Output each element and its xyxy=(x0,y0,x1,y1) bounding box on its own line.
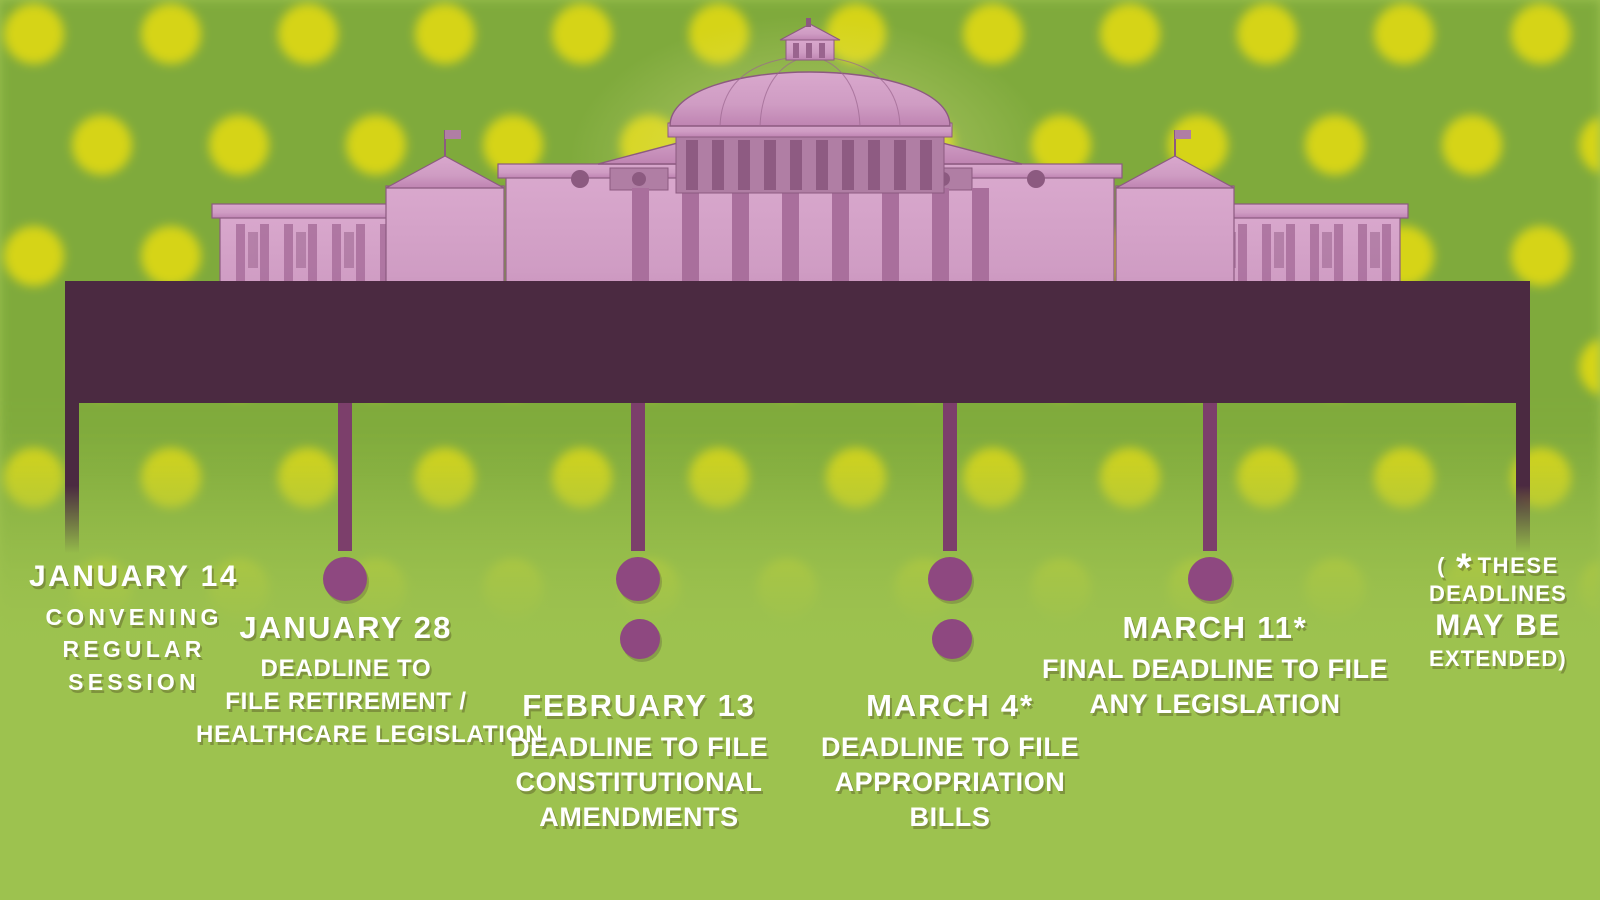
footnote-line-1: (*These xyxy=(1398,552,1598,580)
entry-date-jan14: January 14 xyxy=(0,560,268,595)
infographic-canvas: January 14 Convening Regular Session Jan… xyxy=(0,0,1600,900)
entry-description-mar11: Final Deadline to File Any Legislation xyxy=(1040,652,1390,722)
timeline-dot-mar4-a xyxy=(928,557,972,601)
entry-desc-line: Deadline to File xyxy=(490,730,788,765)
timeline-stem-start xyxy=(65,403,79,553)
entry-date-feb13: February 13 xyxy=(490,688,788,724)
timeline-dot-feb13-b xyxy=(620,619,660,659)
timeline-entry-jan28: January 28 Deadline to File Retirement /… xyxy=(196,610,496,751)
entry-desc-line: Deadline to xyxy=(196,652,496,685)
footnote-line-3: May Be xyxy=(1398,607,1598,645)
entry-description-feb13: Deadline to File Constitutional Amendmen… xyxy=(490,730,788,835)
entry-desc-line: Final Deadline to File xyxy=(1040,652,1390,687)
footnote-line-1-text: These xyxy=(1478,553,1559,578)
footnote-line-2: Deadlines xyxy=(1398,580,1598,608)
timeline-dot-jan28 xyxy=(323,557,367,601)
footnote-asterisk-note: (*These Deadlines May Be Extended) xyxy=(1398,552,1598,673)
entry-date-mar11: March 11* xyxy=(1040,610,1390,646)
entry-desc-line: Bills xyxy=(810,800,1090,835)
entry-desc-line: Healthcare Legislation xyxy=(196,718,496,751)
timeline-entry-feb13: February 13 Deadline to File Constitutio… xyxy=(490,688,788,835)
asterisk-icon: * xyxy=(1456,546,1472,590)
timeline-stem-mar11 xyxy=(1203,403,1217,551)
timeline-dot-feb13-a xyxy=(616,557,660,601)
timeline-dot-mar11 xyxy=(1188,557,1232,601)
entry-desc-line: Any Legislation xyxy=(1040,687,1390,722)
timeline-entry-mar11: March 11* Final Deadline to File Any Leg… xyxy=(1040,610,1390,722)
entry-desc-line: File Retirement / xyxy=(196,685,496,718)
timeline-stem-feb13 xyxy=(631,403,645,551)
entry-description-jan28: Deadline to File Retirement / Healthcare… xyxy=(196,652,496,751)
entry-desc-line: Deadline to File xyxy=(810,730,1090,765)
footnote-open-paren: ( xyxy=(1437,553,1446,578)
timeline-stem-mar4 xyxy=(943,403,957,551)
entry-desc-line: Amendments xyxy=(490,800,788,835)
timeline-stem-end xyxy=(1516,403,1530,553)
footnote-line-4: Extended) xyxy=(1398,645,1598,673)
timeline-bar xyxy=(65,281,1530,403)
entry-desc-line: Appropriation xyxy=(810,765,1090,800)
entry-date-jan28: January 28 xyxy=(196,610,496,646)
entry-desc-line: Constitutional xyxy=(490,765,788,800)
timeline-dot-mar4-b xyxy=(932,619,972,659)
timeline-stem-jan28 xyxy=(338,403,352,551)
entry-description-mar4: Deadline to File Appropriation Bills xyxy=(810,730,1090,835)
